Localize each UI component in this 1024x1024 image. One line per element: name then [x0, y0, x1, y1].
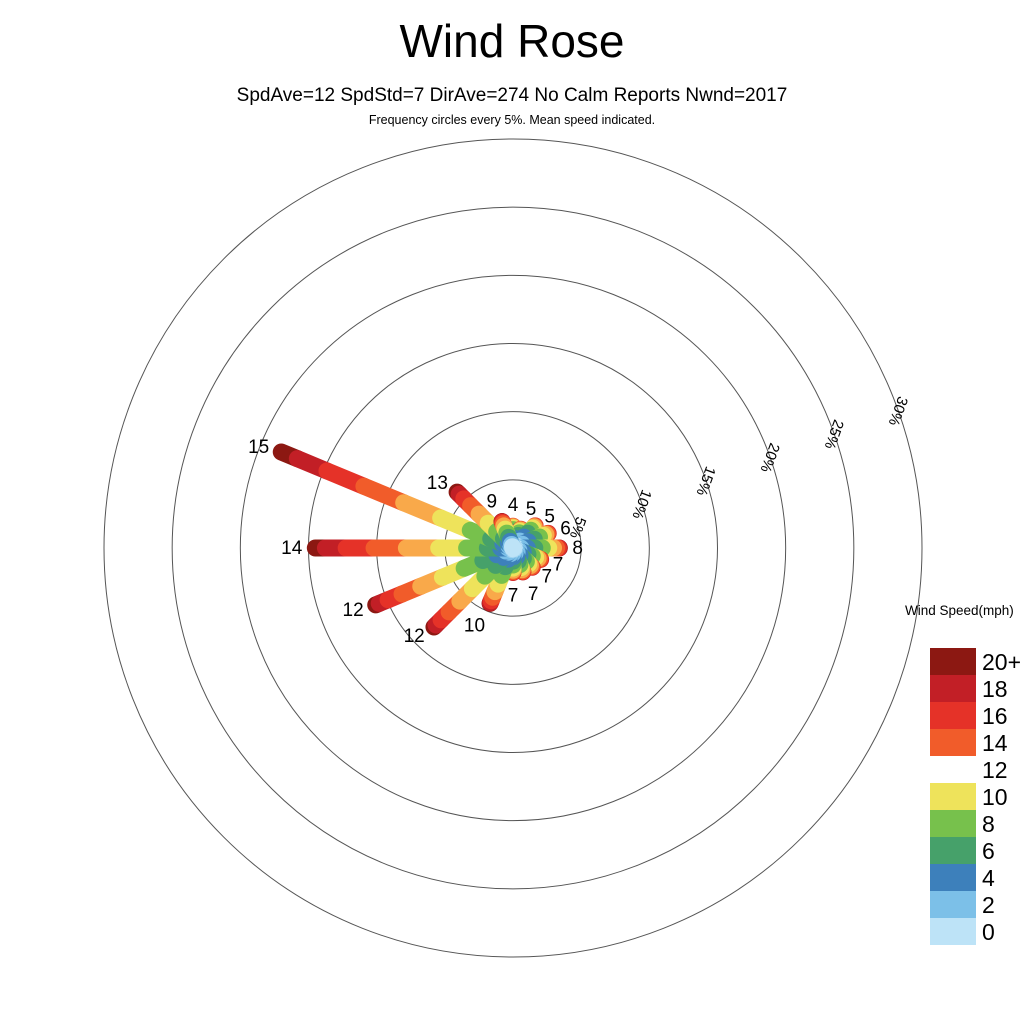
mean-speed-label: 10	[464, 615, 485, 636]
legend-label: 0	[982, 921, 995, 944]
mean-speed-label: 12	[343, 600, 364, 621]
mean-speed-label: 7	[528, 584, 539, 605]
ring-label: 10%	[628, 487, 654, 521]
petal-segment	[512, 547, 513, 548]
petal-wnw	[281, 452, 513, 548]
legend-swatch	[930, 648, 976, 675]
wind-rose-chart: Wind Rose SpdAve=12 SpdStd=7 DirAve=274 …	[0, 0, 1024, 1024]
legend-swatch	[930, 675, 976, 702]
mean-speed-label: 5	[526, 499, 537, 520]
legend-label: 8	[982, 813, 995, 836]
ring-label: 15%	[693, 464, 719, 498]
legend-label: 4	[982, 867, 995, 890]
mean-speed-label: 6	[560, 518, 571, 539]
rose-plot: 5%10%15%20%25%30% 4556877771012121415139	[0, 0, 1024, 1024]
legend-swatch	[930, 783, 976, 810]
legend-swatch	[930, 729, 976, 756]
legend-swatch	[930, 864, 976, 891]
mean-speed-label: 9	[486, 492, 497, 513]
legend-title: Wind Speed(mph)	[905, 603, 1014, 618]
mean-speed-label: 7	[541, 566, 552, 587]
legend-swatch	[930, 918, 976, 945]
ring-label: 25%	[821, 417, 847, 451]
mean-speed-label: 7	[508, 586, 519, 607]
mean-speed-label: 5	[544, 507, 555, 528]
legend-label: 18	[982, 678, 1008, 701]
legend-swatch	[930, 702, 976, 729]
legend-label: 10	[982, 786, 1008, 809]
legend-swatch	[930, 837, 976, 864]
legend-label: 16	[982, 705, 1008, 728]
mean-speed-label: 7	[553, 554, 564, 575]
petal-nnw	[502, 522, 513, 548]
ring-labels: 5%10%15%20%25%30%	[566, 394, 911, 541]
legend-label: 14	[982, 732, 1008, 755]
mean-speed-label: 12	[404, 626, 425, 647]
mean-speed-label: 13	[427, 473, 448, 494]
legend-label: 12	[982, 759, 1008, 782]
legend-label: 6	[982, 840, 995, 863]
mean-speed-label: 14	[281, 538, 303, 559]
ring-label: 20%	[757, 441, 783, 475]
mean-speed-label: 4	[508, 495, 519, 516]
mean-speed-label: 8	[572, 538, 583, 559]
mean-speed-label: 15	[248, 437, 269, 458]
legend-swatch	[930, 810, 976, 837]
legend-label: 2	[982, 894, 995, 917]
legend-label: 20+	[982, 651, 1021, 674]
legend-swatch	[930, 891, 976, 918]
ring-label: 30%	[885, 394, 911, 428]
legend-swatch	[930, 756, 976, 783]
